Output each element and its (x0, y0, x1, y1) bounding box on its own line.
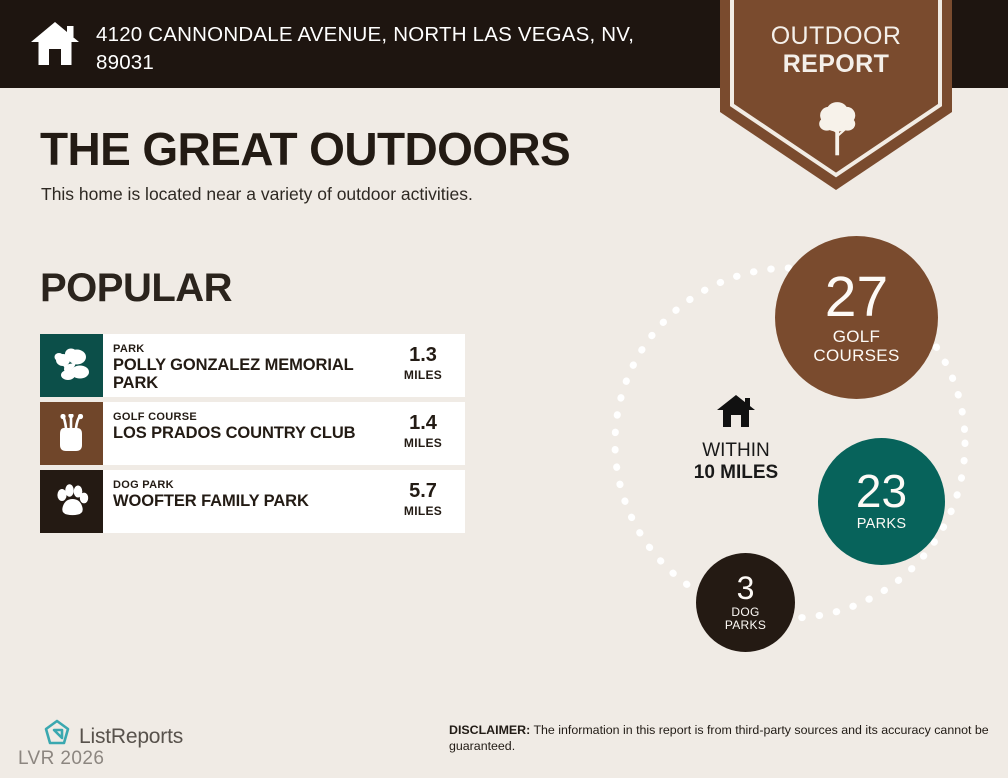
list-item-name: POLLY GONZALEZ MEMORIAL PARK (113, 356, 389, 393)
stat-bubble-parks[interactable]: 23 PARKS (818, 438, 945, 565)
stat-label-line1: GOLF (813, 328, 899, 346)
within-line2: 10 MILES (666, 462, 806, 484)
stat-label-line1: DOG (725, 606, 766, 619)
header-address-block: 4120 CANNONDALE AVENUE, NORTH LAS VEGAS,… (30, 14, 690, 76)
header-address-text: 4120 CANNONDALE AVENUE, NORTH LAS VEGAS,… (96, 14, 666, 76)
list-item-body: PARK POLLY GONZALEZ MEMORIAL PARK (103, 334, 393, 397)
within-10-miles-diagram: 27 GOLF COURSES 23 PARKS 3 DOG PARKS (590, 228, 1008, 668)
within-radius-center: WITHIN 10 MILES (666, 393, 806, 484)
disclaimer: DISCLAIMER: The information in this repo… (449, 722, 994, 755)
list-item-distance-unit: MILES (393, 436, 453, 450)
list-item-body: DOG PARK WOOFTER FAMILY PARK (103, 470, 393, 533)
list-item-distance: 1.4 MILES (393, 402, 465, 465)
within-line1: WITHIN (666, 440, 806, 462)
page-title: THE GREAT OUTDOORS (40, 122, 570, 176)
list-item-name: WOOFTER FAMILY PARK (113, 492, 389, 510)
list-item-distance-unit: MILES (393, 368, 453, 382)
list-item[interactable]: DOG PARK WOOFTER FAMILY PARK 5.7 MILES (40, 470, 465, 533)
section-title-popular: POPULAR (40, 266, 232, 311)
list-item[interactable]: PARK POLLY GONZALEZ MEMORIAL PARK 1.3 MI… (40, 334, 465, 397)
list-item-distance-value: 1.3 (393, 345, 453, 365)
listreports-logo-text: ListReports (79, 725, 183, 749)
watermark-text: LVR 2026 (18, 748, 104, 770)
badge-title: OUTDOOR REPORT (718, 22, 954, 78)
badge-title-line2: REPORT (718, 50, 954, 78)
home-icon (666, 393, 806, 434)
golf-bag-icon (40, 402, 103, 465)
stat-label: DOG PARKS (725, 606, 766, 632)
stat-label: GOLF COURSES (813, 328, 899, 365)
list-item-distance-value: 1.4 (393, 413, 453, 433)
list-item-category: DOG PARK (113, 479, 389, 492)
badge-title-line1: OUTDOOR (718, 22, 954, 50)
paw-print-icon (40, 470, 103, 533)
stat-bubble-dog-parks[interactable]: 3 DOG PARKS (696, 553, 795, 652)
list-item-category: GOLF COURSE (113, 411, 389, 424)
stat-label-line2: PARKS (725, 619, 766, 632)
list-item-distance: 5.7 MILES (393, 470, 465, 533)
list-item-category: PARK (113, 343, 389, 356)
outdoor-report-page: 4120 CANNONDALE AVENUE, NORTH LAS VEGAS,… (0, 0, 1008, 778)
stat-bubble-golf-courses[interactable]: 27 GOLF COURSES (775, 236, 938, 399)
page-subtitle: This home is located near a variety of o… (41, 184, 473, 205)
list-item-distance-value: 5.7 (393, 481, 453, 501)
home-icon (30, 20, 80, 68)
park-trees-icon (40, 334, 103, 397)
stat-label: PARKS (857, 517, 907, 533)
stat-value: 3 (737, 573, 755, 603)
list-item-name: LOS PRADOS COUNTRY CLUB (113, 424, 389, 442)
outdoor-report-badge: OUTDOOR REPORT (718, 0, 954, 192)
disclaimer-text: The information in this report is from t… (449, 723, 989, 753)
stat-value: 23 (856, 470, 907, 514)
list-item[interactable]: GOLF COURSE LOS PRADOS COUNTRY CLUB 1.4 … (40, 402, 465, 465)
list-item-distance: 1.3 MILES (393, 334, 465, 397)
list-item-body: GOLF COURSE LOS PRADOS COUNTRY CLUB (103, 402, 393, 465)
stat-value: 27 (825, 270, 888, 324)
disclaimer-label: DISCLAIMER: (449, 723, 530, 737)
stat-label-line2: COURSES (813, 347, 899, 365)
list-item-distance-unit: MILES (393, 504, 453, 518)
popular-list: PARK POLLY GONZALEZ MEMORIAL PARK 1.3 MI… (40, 334, 465, 538)
